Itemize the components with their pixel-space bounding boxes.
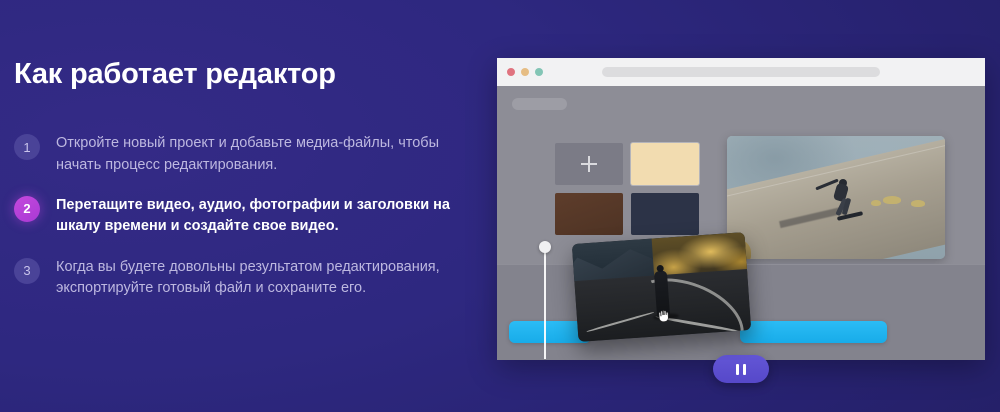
preview-bush	[883, 196, 901, 204]
minimize-window-icon[interactable]	[521, 68, 529, 76]
address-bar[interactable]	[602, 67, 880, 77]
pause-icon	[743, 364, 746, 375]
timeline-clip-right[interactable]	[740, 321, 887, 343]
pause-icon	[736, 364, 739, 375]
step-text-2: Перетащите видео, аудио, фотографии и за…	[56, 195, 456, 238]
step-number-badge-3: 3	[14, 258, 40, 284]
media-thumbnail-brown[interactable]	[555, 193, 623, 235]
maximize-window-icon[interactable]	[535, 68, 543, 76]
media-thumbnail-navy[interactable]	[631, 193, 699, 235]
step-text-3: Когда вы будете довольны результатом ред…	[56, 257, 456, 300]
toolbar-placeholder-pill	[512, 98, 567, 110]
window-titlebar	[497, 58, 985, 86]
step-number-badge-1: 1	[14, 134, 40, 160]
step-item-1[interactable]: 1 Откройте новый проект и добавьте медиа…	[14, 133, 484, 176]
step-item-2[interactable]: 2 Перетащите видео, аудио, фотографии и …	[14, 195, 484, 238]
media-library-grid	[555, 143, 700, 235]
traffic-lights	[507, 68, 543, 76]
grab-hand-cursor	[656, 308, 671, 323]
promo-banner: Как работает редактор 1 Откройте новый п…	[0, 0, 1000, 412]
preview-bush	[911, 200, 925, 207]
step-item-3[interactable]: 3 Когда вы будете довольны результатом р…	[14, 257, 484, 300]
close-window-icon[interactable]	[507, 68, 515, 76]
dragged-media-clip[interactable]	[572, 232, 751, 342]
preview-skateboarder	[819, 174, 867, 224]
steps-list: 1 Откройте новый проект и добавьте медиа…	[14, 133, 484, 299]
playhead-knob[interactable]	[539, 241, 551, 253]
add-media-tile[interactable]	[555, 143, 623, 185]
video-preview[interactable]	[727, 136, 945, 259]
editor-workspace	[497, 86, 985, 360]
editor-app-window	[497, 58, 985, 360]
page-title: Как работает редактор	[14, 58, 484, 91]
pause-button[interactable]	[713, 355, 769, 383]
step-text-1: Откройте новый проект и добавьте медиа-ф…	[56, 133, 456, 176]
playhead[interactable]	[544, 247, 546, 359]
media-thumbnail-cream[interactable]	[631, 143, 699, 185]
plus-icon	[581, 156, 597, 172]
content-column: Как работает редактор 1 Откройте новый п…	[14, 58, 484, 318]
preview-bush	[871, 200, 881, 206]
step-number-badge-2: 2	[14, 196, 40, 222]
